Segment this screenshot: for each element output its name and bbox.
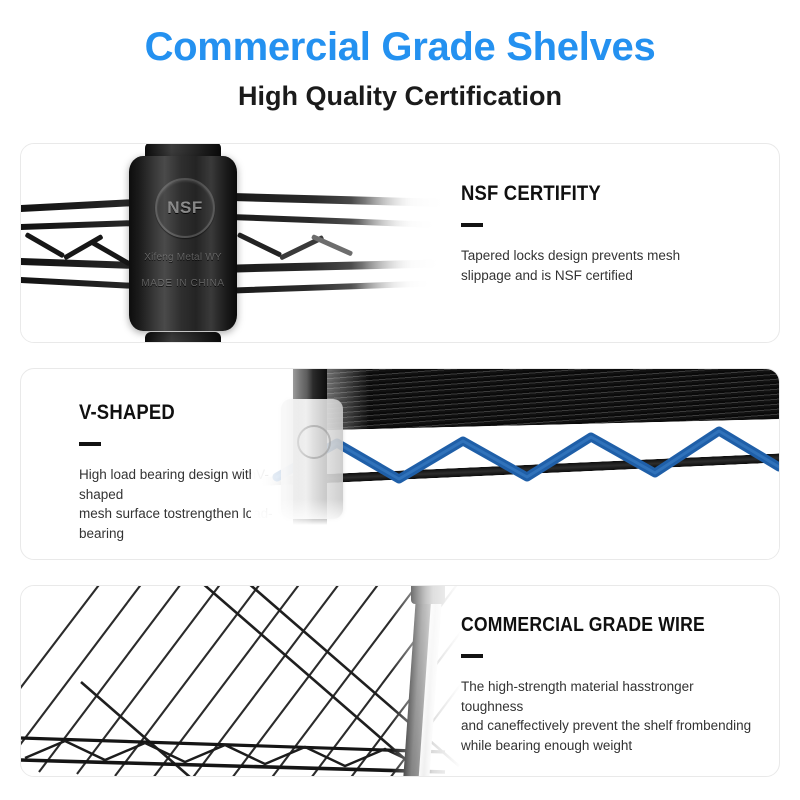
right-v-truss [239, 228, 359, 272]
feature-title: NSF CERTIFITY [461, 182, 721, 206]
collar-bottom-cap [145, 332, 221, 342]
feature-text-commercial-grade-wire: COMMERCIAL GRADE WIRE The high-strength … [449, 586, 779, 776]
nsf-badge-label: NSF [167, 198, 203, 218]
feature-body-line: The high-strength material hasstronger t… [461, 677, 757, 716]
nsf-logo-icon: NSF [155, 178, 215, 238]
feature-body-line: slippage and is NSF certified [461, 266, 731, 286]
feature-body-line: and caneffectively prevent the shelf fro… [461, 716, 757, 736]
feature-card-nsf-certifity: NSF Xifeng Metal WY MADE IN CHINA NSF CE… [20, 143, 780, 343]
title-divider [79, 442, 101, 446]
feature-title: COMMERCIAL GRADE WIRE [461, 614, 721, 637]
v-shaped-zigzag-highlight [271, 421, 780, 491]
nsf-collar-photo: NSF Xifeng Metal WY MADE IN CHINA [21, 144, 461, 342]
feature-body: The high-strength material hasstronger t… [461, 677, 757, 755]
nsf-collar: NSF Xifeng Metal WY MADE IN CHINA [129, 156, 237, 331]
left-v-truss [27, 230, 137, 272]
title-divider [461, 223, 483, 227]
page-subtitle: High Quality Certification [0, 68, 800, 110]
page-header: Commercial Grade Shelves High Quality Ce… [0, 0, 800, 110]
title-divider [461, 654, 483, 658]
page-title: Commercial Grade Shelves [0, 26, 800, 68]
feature-card-v-shaped: V-SHAPED High load bearing design withV-… [20, 368, 780, 560]
collar-brand-text: Xifeng Metal WY [129, 252, 237, 263]
feature-body-line: Tapered locks design prevents mesh [461, 246, 731, 266]
collar-origin-text: MADE IN CHINA [129, 278, 237, 289]
wire-grid-photo [21, 586, 461, 776]
feature-card-commercial-grade-wire: COMMERCIAL GRADE WIRE The high-strength … [20, 585, 780, 777]
feature-body-line: while bearing enough weight [461, 736, 757, 756]
feature-text-nsf-certifity: NSF CERTIFITY Tapered locks design preve… [449, 144, 779, 342]
feature-body: Tapered locks design prevents mesh slipp… [461, 246, 731, 285]
v-shaped-mesh-photo [251, 369, 780, 559]
